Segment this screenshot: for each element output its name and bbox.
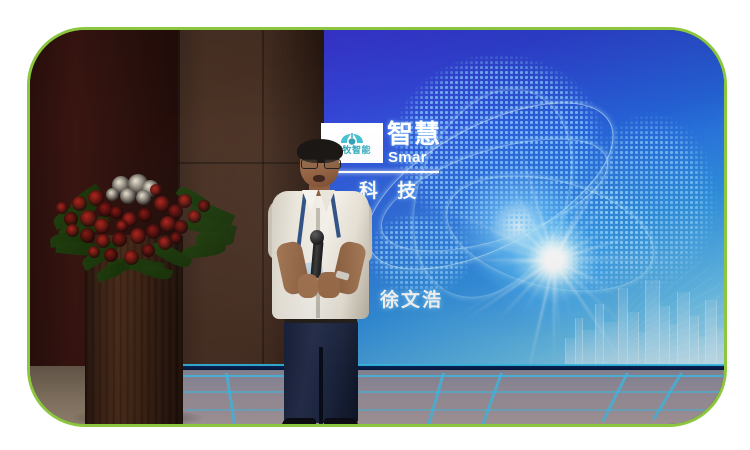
flower-bloom (146, 224, 161, 239)
flower-bloom (110, 206, 123, 219)
floor-grid-line-diagonal (652, 372, 682, 420)
city-skyline-graphic (565, 251, 724, 376)
flower-bloom (142, 244, 155, 257)
floor-grid-line-diagonal (427, 373, 445, 424)
flower-bloom (88, 246, 100, 258)
flower-bloom (198, 200, 210, 212)
flower-bloom (188, 210, 201, 223)
flower-bloom (124, 250, 139, 265)
flower-bloom (138, 208, 152, 222)
shoe-left (282, 418, 316, 424)
flower-bloom (112, 232, 127, 247)
flower-bloom (170, 232, 182, 244)
flower-bloom (104, 248, 118, 262)
flower-bloom (66, 224, 79, 237)
flower-bloom (80, 228, 95, 243)
eyeglasses-icon (301, 159, 339, 167)
leg-gap (319, 347, 323, 424)
flower-bloom (136, 190, 151, 205)
speaker-person (262, 142, 382, 424)
starburst-ray (470, 259, 554, 261)
hand-left (298, 274, 318, 298)
starburst-ray (553, 260, 555, 366)
slide-title-en: Smar (388, 149, 427, 166)
flower-bloom (106, 188, 119, 201)
floor-grid-line-diagonal (602, 372, 629, 421)
flower-bloom (94, 218, 110, 234)
microphone-head-icon (310, 230, 324, 245)
floral-arrangement (50, 162, 230, 272)
flower-bloom (96, 234, 110, 248)
floor-grid-line-diagonal (482, 372, 503, 424)
mouth (313, 175, 325, 182)
shoe-right (324, 418, 358, 424)
floor-grid-line-diagonal (225, 373, 236, 424)
flower-bloom (56, 202, 68, 214)
flower-bloom (120, 188, 136, 204)
conference-photograph: 艾牧智能 智慧 Smar 科 技 徐文浩 (30, 30, 724, 424)
flower-bloom (116, 220, 128, 232)
flower-bloom (150, 184, 162, 196)
led-presentation-screen (324, 30, 724, 376)
slide-title-cn: 智慧 (387, 121, 441, 148)
flower-bloom (178, 194, 192, 208)
flower-bloom (72, 196, 87, 211)
screenshot-canvas: 艾牧智能 智慧 Smar 科 技 徐文浩 (0, 0, 750, 450)
photo-frame: 艾牧智能 智慧 Smar 科 技 徐文浩 (27, 27, 727, 427)
flower-bloom (130, 228, 146, 244)
slide-speaker-name: 徐文浩 (380, 285, 443, 312)
